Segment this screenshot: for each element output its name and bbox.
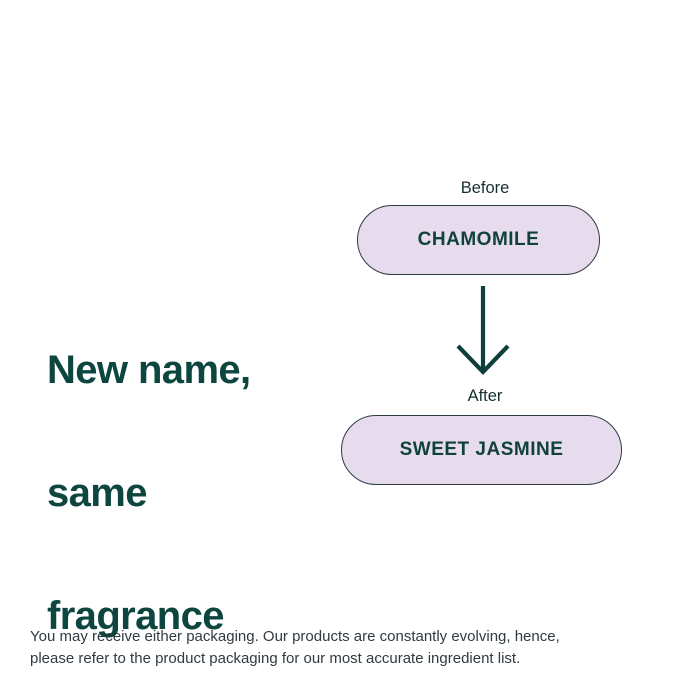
arrow-down-icon	[448, 282, 518, 380]
before-name-text: CHAMOMILE	[418, 229, 540, 251]
before-after-diagram: Before CHAMOMILE After SWEET JASMINE	[330, 170, 640, 490]
packaging-disclaimer: You may receive either packaging. Our pr…	[30, 626, 650, 670]
headline-line-2: same	[47, 473, 337, 514]
after-name-pill: SWEET JASMINE	[341, 415, 622, 485]
before-name-pill: CHAMOMILE	[357, 205, 600, 275]
disclaimer-line-2: please refer to the product packaging fo…	[30, 648, 650, 670]
page-title: New name, same fragrance	[47, 268, 337, 679]
after-name-text: SWEET JASMINE	[400, 439, 564, 461]
product-rename-graphic: New name, same fragrance Before CHAMOMIL…	[0, 0, 679, 679]
headline-line-1: New name,	[47, 350, 337, 391]
before-label: Before	[330, 178, 640, 198]
disclaimer-line-1: You may receive either packaging. Our pr…	[30, 626, 650, 648]
after-label: After	[330, 386, 640, 406]
